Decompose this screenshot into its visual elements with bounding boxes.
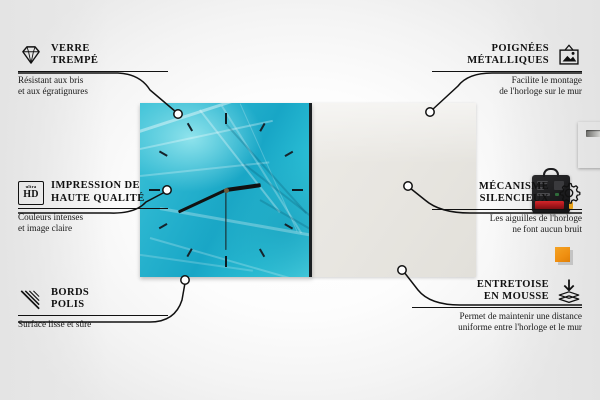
endpoint-verre-trempe — [174, 110, 182, 118]
endpoint-poignees — [426, 108, 434, 116]
feature-mecanisme-silencieux: MÉCANISME SILENCIEUX Les aiguilles de l'… — [432, 180, 582, 235]
feature-poignees-metalliques: POIGNÉES MÉTALLIQUES Facilite le montage… — [432, 42, 582, 97]
feature-verre-trempe: VERRE TREMPÉ Résistant aux bris et aux é… — [18, 42, 168, 97]
ultra-hd-icon-main: HD — [23, 190, 38, 200]
feature-impression-haute-qualite: ultra HD IMPRESSION DE HAUTE QUALITÉ Cou… — [18, 180, 168, 234]
endpoint-bords-polis — [181, 276, 189, 284]
feature-title: ENTRETOISE EN MOUSSE — [477, 279, 549, 304]
feature-subtitle: Permet de maintenir une distance uniform… — [412, 311, 582, 333]
divider — [18, 315, 168, 316]
feature-title: VERRE TREMPÉ — [51, 43, 98, 68]
infographic-canvas: VERRE TREMPÉ Résistant aux bris et aux é… — [0, 0, 600, 400]
divider — [432, 209, 582, 210]
diamond-icon — [18, 42, 44, 68]
divider — [18, 71, 168, 72]
feature-title: MÉCANISME SILENCIEUX — [479, 181, 549, 206]
divider — [18, 208, 168, 209]
ultra-hd-icon: ultra HD — [18, 181, 44, 205]
picture-hanger-icon — [556, 42, 582, 68]
feature-bords-polis: BORDS POLIS Surface lisse et sûre — [18, 286, 168, 330]
feature-entretoise-en-mousse: ENTRETOISE EN MOUSSE Permet de maintenir… — [412, 278, 582, 333]
feature-title: IMPRESSION DE HAUTE QUALITÉ — [51, 180, 145, 205]
polished-edges-icon — [18, 286, 44, 312]
feature-subtitle: Facilite le montage de l'horloge sur le … — [432, 75, 582, 97]
feature-title: POIGNÉES MÉTALLIQUES — [467, 43, 549, 68]
feature-subtitle: Couleurs intenses et image claire — [18, 212, 168, 234]
foam-spacer-icon — [556, 278, 582, 304]
divider — [412, 307, 582, 308]
gear-icon — [556, 180, 582, 206]
feature-title: BORDS POLIS — [51, 287, 89, 312]
endpoint-entretoise — [398, 266, 406, 274]
endpoint-mecanisme — [404, 182, 412, 190]
feature-subtitle: Surface lisse et sûre — [18, 319, 168, 330]
feature-subtitle: Résistant aux bris et aux égratignures — [18, 75, 168, 97]
feature-subtitle: Les aiguilles de l'horloge ne font aucun… — [432, 213, 582, 235]
divider — [432, 71, 582, 72]
